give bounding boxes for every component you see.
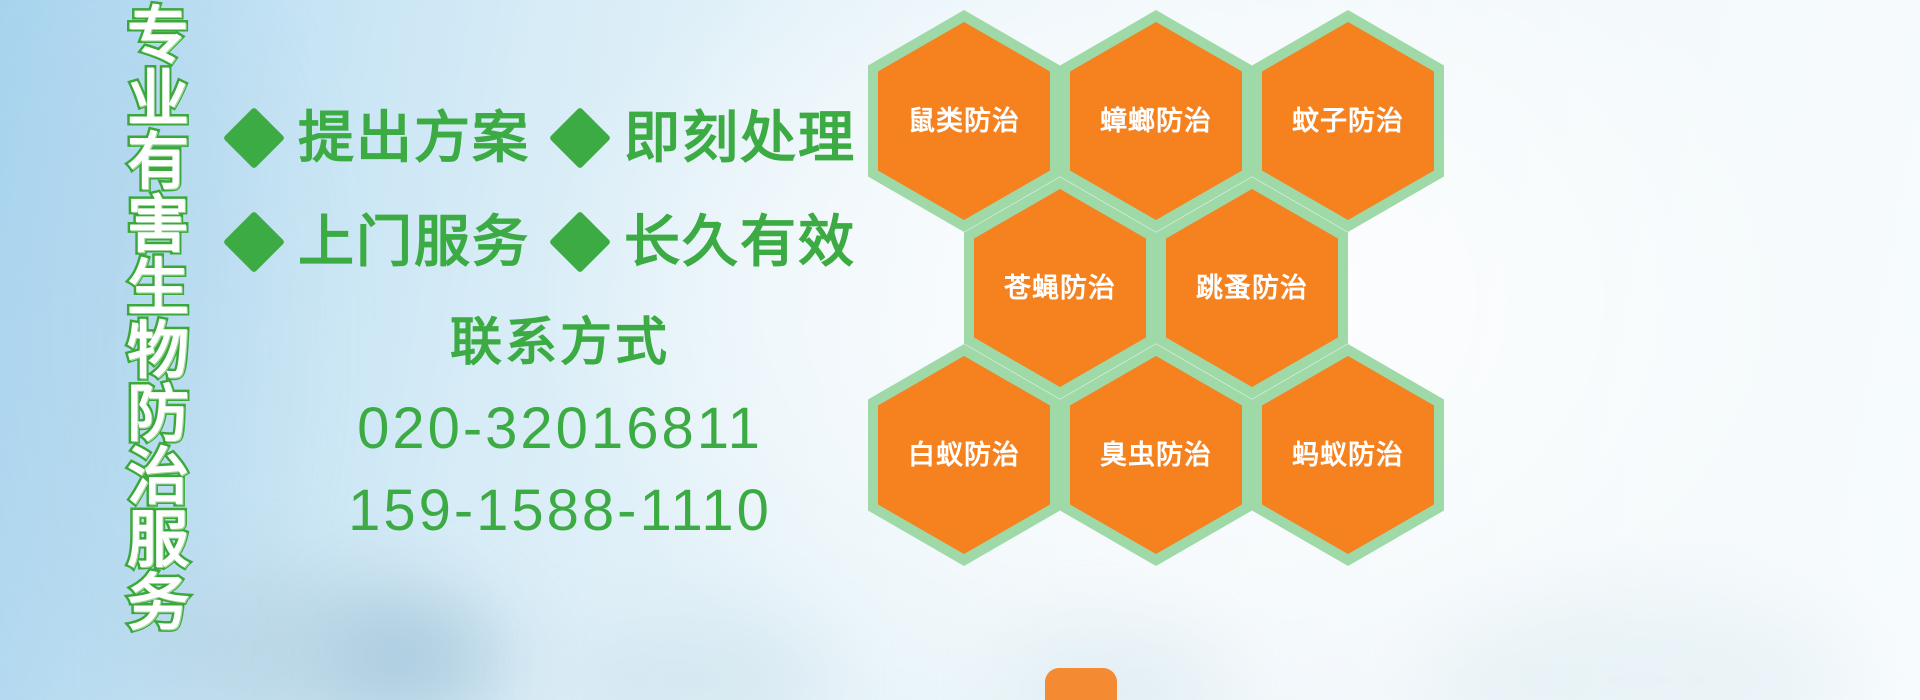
feature-label: 长久有效 — [624, 214, 856, 270]
feature-item-immediate-handling: 即刻处理 — [558, 110, 856, 166]
service-label: 苍蝇防治 — [1004, 273, 1116, 303]
hex-inner: 鼠类防治 — [878, 22, 1050, 220]
service-hexagon-cluster: 鼠类防治 蟑螂防治 蚊子防治 苍蝇防治 跳蚤防治 白蚁防治 — [860, 0, 1480, 700]
pest-control-banner: 专 业 有 害 生 物 防 治 服 务 提出方案 即刻处理 上门服务 — [0, 0, 1920, 700]
service-label: 蟑螂防治 — [1100, 106, 1212, 136]
feature-row: 提出方案 即刻处理 — [232, 86, 872, 190]
vertical-headline-char: 服 — [127, 510, 189, 572]
vertical-headline-char: 业 — [127, 69, 189, 131]
background-blob-5 — [1430, 600, 1850, 700]
diamond-icon — [549, 107, 611, 169]
feature-label: 即刻处理 — [624, 110, 856, 166]
diamond-icon — [223, 211, 285, 273]
hex-inner: 白蚁防治 — [878, 356, 1050, 554]
feature-item-propose-plan: 提出方案 — [232, 110, 530, 166]
vertical-headline: 专 业 有 害 生 物 防 治 服 务 — [108, 6, 208, 566]
vertical-headline-char: 有 — [127, 132, 189, 194]
hex-inner: 苍蝇防治 — [974, 189, 1146, 387]
service-label: 白蚁防治 — [908, 440, 1020, 470]
hex-inner: 臭虫防治 — [1070, 356, 1242, 554]
service-label: 蚊子防治 — [1292, 106, 1404, 136]
feature-label: 提出方案 — [298, 110, 530, 166]
service-label: 鼠类防治 — [908, 106, 1020, 136]
background-blob-1 — [150, 575, 450, 700]
hex-inner: 蚂蚁防治 — [1262, 356, 1434, 554]
service-label: 跳蚤防治 — [1196, 273, 1308, 303]
feature-row: 上门服务 长久有效 — [232, 190, 872, 294]
service-label: 蚂蚁防治 — [1292, 440, 1404, 470]
hex-inner: 跳蚤防治 — [1166, 189, 1338, 387]
hex-inner: 蟑螂防治 — [1070, 22, 1242, 220]
background-blob-3 — [560, 625, 820, 700]
phone-mobile[interactable]: 159-1588-1110 — [300, 470, 820, 552]
contact-block: 联系方式 020-32016811 159-1588-1110 — [300, 312, 820, 552]
vertical-headline-char: 害 — [127, 195, 189, 257]
vertical-headline-char: 物 — [127, 321, 189, 383]
diamond-icon — [549, 211, 611, 273]
phone-landline[interactable]: 020-32016811 — [300, 388, 820, 470]
diamond-icon — [223, 107, 285, 169]
vertical-headline-char: 防 — [127, 384, 189, 446]
hex-inner: 蚊子防治 — [1262, 22, 1434, 220]
feature-item-long-lasting: 长久有效 — [558, 214, 856, 270]
service-label: 臭虫防治 — [1100, 440, 1212, 470]
feature-list: 提出方案 即刻处理 上门服务 长久有效 — [232, 86, 872, 294]
background-blob-2 — [330, 600, 510, 700]
vertical-headline-char: 治 — [127, 447, 189, 509]
vertical-headline-char: 务 — [127, 573, 189, 635]
feature-label: 上门服务 — [298, 214, 530, 270]
feature-item-onsite-service: 上门服务 — [232, 214, 530, 270]
vertical-headline-char: 专 — [127, 6, 189, 68]
contact-title: 联系方式 — [300, 312, 820, 374]
vertical-headline-char: 生 — [127, 258, 189, 320]
